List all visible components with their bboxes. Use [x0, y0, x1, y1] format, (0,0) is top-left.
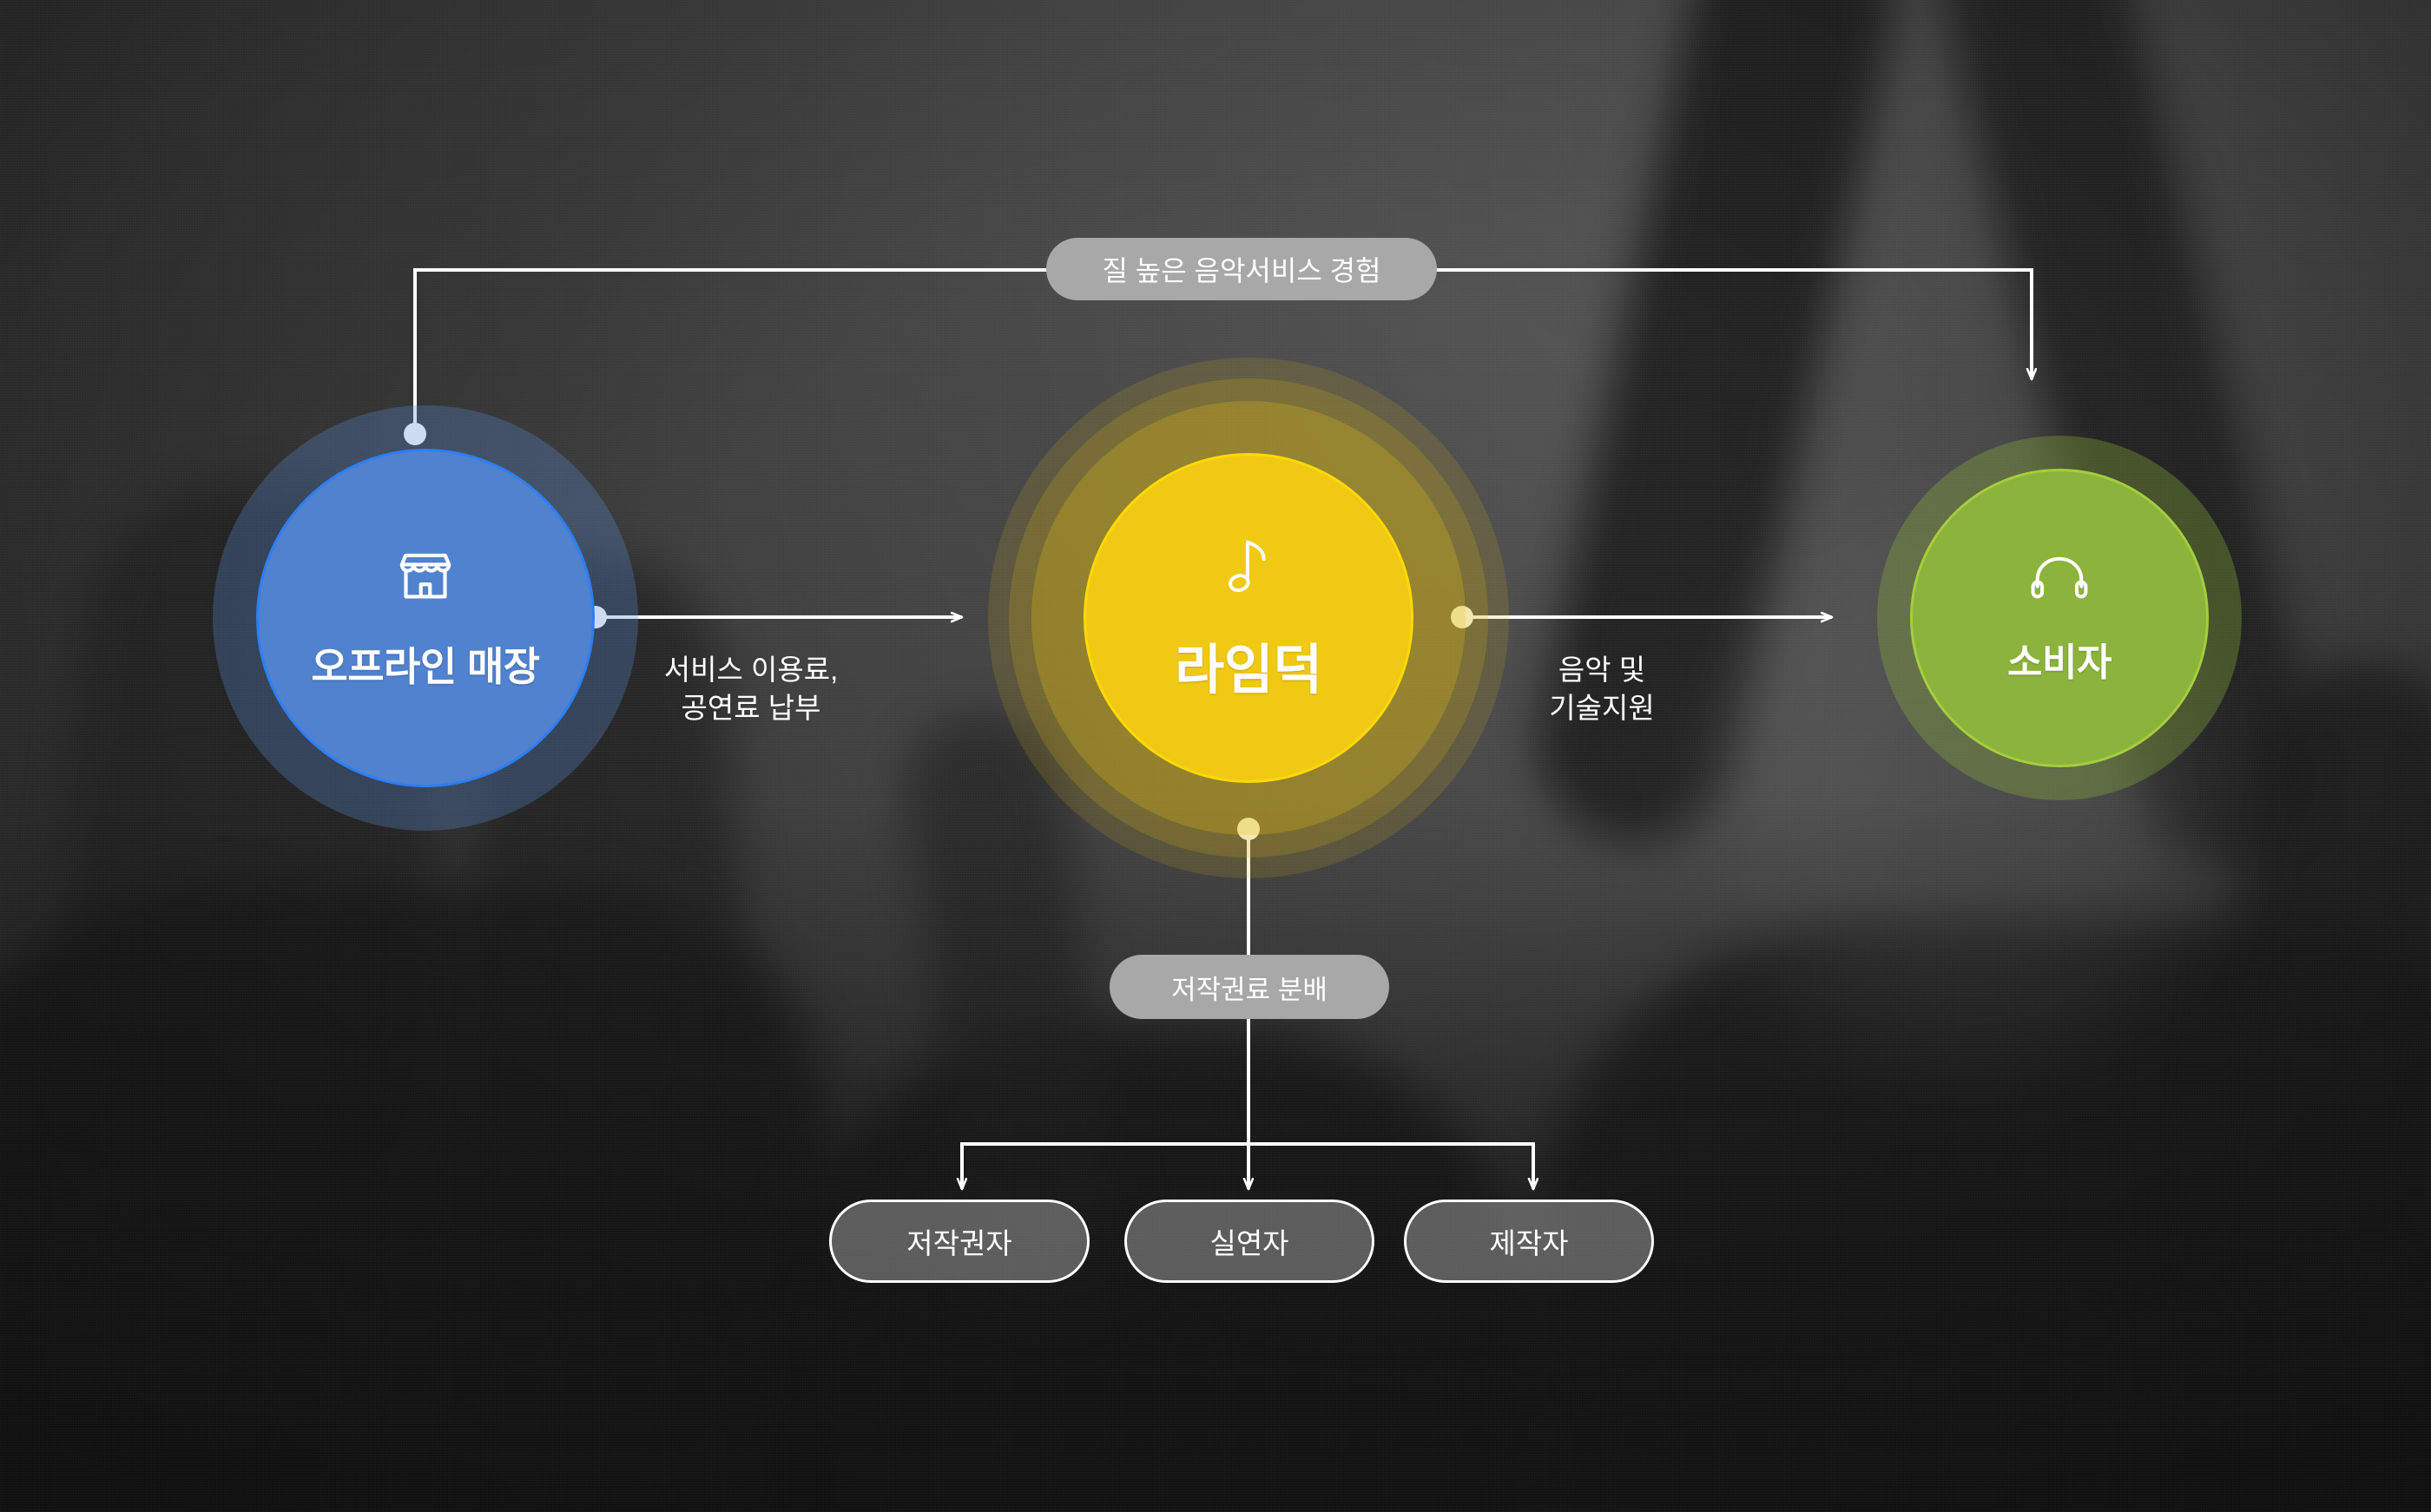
flow-caption-store-to-brand-line1: 서비스 이용료,: [608, 651, 894, 689]
flow-caption-store-to-brand: 서비스 이용료, 공연료 납부: [608, 651, 894, 726]
flow-label-experience: 질 높은 음악서비스 경험: [1046, 238, 1437, 300]
flow-label-royalty-text: 저작권료 분배: [1171, 968, 1327, 1007]
node-label-brand: 라임덕: [1175, 626, 1322, 704]
flow-label-royalty: 저작권료 분배: [1110, 955, 1389, 1019]
diagram-canvas: 오프라인 매장 라임덕: [0, 0, 2431, 1512]
node-disc-blue: 오프라인 매장: [256, 449, 595, 787]
node-consumer[interactable]: 소비자: [1877, 436, 2242, 800]
headphones-icon: [2029, 550, 2090, 608]
node-label-offline-store: 오프라인 매장: [311, 635, 539, 693]
recipient-label-1: 실연자: [1209, 1220, 1288, 1262]
flow-caption-brand-to-consumer-line1: 음악 및: [1459, 651, 1745, 689]
recipient-box-producer[interactable]: 제작자: [1404, 1200, 1654, 1283]
node-disc-green: 소비자: [1910, 469, 2209, 767]
wire-royalty-branch-left: [962, 1144, 1248, 1189]
node-offline-store[interactable]: 오프라인 매장: [213, 405, 638, 831]
flow-caption-brand-to-consumer-line2: 기술지원: [1459, 689, 1745, 727]
node-disc-yellow: 라임덕: [1084, 453, 1413, 783]
wire-royalty-branch-right: [1248, 1144, 1533, 1189]
storefront-icon: [393, 544, 458, 613]
flow-label-experience-text: 질 높은 음악서비스 경험: [1102, 249, 1380, 289]
flow-caption-brand-to-consumer: 음악 및 기술지원: [1459, 651, 1745, 726]
flow-caption-store-to-brand-line2: 공연료 납부: [608, 689, 894, 727]
node-label-consumer: 소비자: [2007, 631, 2111, 687]
node-brand-limeduck[interactable]: 라임덕: [988, 358, 1509, 878]
recipient-label-2: 제작자: [1489, 1220, 1568, 1262]
music-note-icon: [1220, 533, 1277, 607]
recipient-box-copyright-holder[interactable]: 저작권자: [829, 1200, 1090, 1283]
recipient-label-0: 저작권자: [906, 1220, 1011, 1262]
recipient-box-performer[interactable]: 실연자: [1124, 1200, 1374, 1283]
